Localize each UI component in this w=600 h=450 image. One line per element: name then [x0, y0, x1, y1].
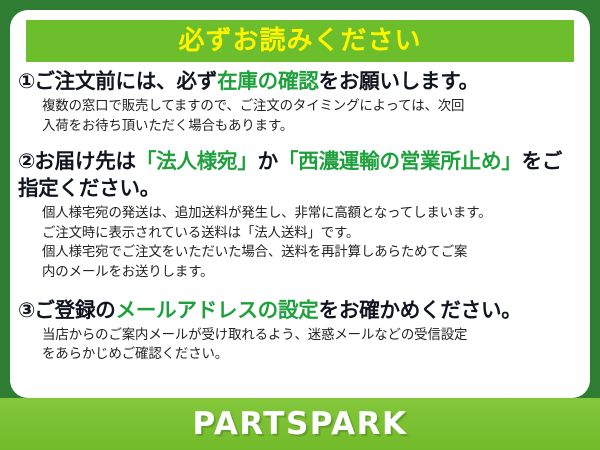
notice-item-1-detail-line-1: 複数の窓口で販売してますので、ご注文のタイミングによっては、次回: [42, 97, 582, 117]
notice-items-list: ①ご注文前には、必ず在庫の確認をお願いします。 複数の窓口で販売してますので、ご…: [10, 68, 590, 367]
notice-item-3: ③ご登録のメールアドレスの設定をお確かめください。 当店からのご案内メールが受け…: [16, 297, 582, 365]
notice-item-1-detail: 複数の窓口で販売してますので、ご注文のタイミングによっては、次回 入荷をお待ち頂…: [16, 97, 582, 136]
notice-item-3-detail: 当店からのご案内メールが受け取れるよう、迷惑メールなどの受信設定 をあらかじめご…: [16, 326, 582, 365]
notice-item-3-detail-line-1: 当店からのご案内メールが受け取れるよう、迷惑メールなどの受信設定: [42, 326, 582, 346]
notice-item-2-detail-line-4: 内のメールをお送りします。: [42, 263, 582, 283]
notice-item-3-heading-part-2: をお確かめください。: [319, 298, 522, 322]
header-banner: 必ずお読みください: [26, 20, 574, 62]
notice-item-2: ②お届け先は「法人様宛」か「西濃運輸の営業所止め」をご指定ください。 個人様宅宛…: [16, 148, 582, 282]
notice-item-2-detail-line-1: 個人様宅宛の発送は、追加送料が発生し、非常に高額となってしまいます。: [42, 204, 582, 224]
notice-item-2-heading-highlight-1: 「法人様宛」: [136, 149, 258, 173]
notice-item-2-detail: 個人様宅宛の発送は、追加送料が発生し、非常に高額となってしまいます。 ご注文時に…: [16, 204, 582, 282]
notice-item-1-heading-part-0: ご注文前には、必ず: [34, 69, 217, 93]
header-banner-title: 必ずお読みください: [178, 28, 421, 54]
notice-item-2-heading-part-2: か: [258, 149, 278, 173]
notice-item-2-number: ②: [18, 149, 34, 173]
brand-footer: PARTSPARK: [0, 398, 600, 450]
notice-item-3-heading-highlight: メールアドレスの設定: [116, 298, 319, 322]
notice-item-3-detail-line-2: をあらかじめご確認ください。: [42, 345, 582, 365]
notice-item-2-heading-part-0: お届け先は: [34, 149, 136, 173]
notice-item-2-detail-line-2: ご注文時に表示されている送料は「法人送料」です。: [42, 224, 582, 244]
notice-item-3-heading: ③ご登録のメールアドレスの設定をお確かめください。: [16, 297, 582, 324]
notice-item-2-detail-line-3: 個人様宅宛でご注文をいただいた場合、送料を再計算しあらためてご案: [42, 243, 582, 263]
notice-item-3-heading-part-0: ご登録の: [34, 298, 115, 322]
notice-item-3-number: ③: [18, 298, 34, 322]
notice-item-1: ①ご注文前には、必ず在庫の確認をお願いします。 複数の窓口で販売してますので、ご…: [16, 68, 582, 136]
notice-item-1-heading-highlight: 在庫の確認: [217, 69, 319, 93]
notice-item-1-heading: ①ご注文前には、必ず在庫の確認をお願いします。: [16, 68, 582, 95]
notice-item-2-heading: ②お届け先は「法人様宛」か「西濃運輸の営業所止め」をご指定ください。: [16, 148, 582, 202]
notice-item-2-heading-highlight-2: 「西濃運輸の営業所止め」: [278, 149, 522, 173]
notice-item-1-number: ①: [18, 69, 34, 93]
brand-logo-text: PARTSPARK: [192, 409, 407, 440]
notice-frame: 必ずお読みください ①ご注文前には、必ず在庫の確認をお願いします。 複数の窓口で…: [0, 0, 600, 450]
notice-item-1-detail-line-2: 入荷をお待ち頂いただく場合もあります。: [42, 117, 582, 137]
notice-card: 必ずお読みください ①ご注文前には、必ず在庫の確認をお願いします。 複数の窓口で…: [10, 10, 590, 398]
notice-item-1-heading-part-2: をお願いします。: [319, 69, 479, 93]
